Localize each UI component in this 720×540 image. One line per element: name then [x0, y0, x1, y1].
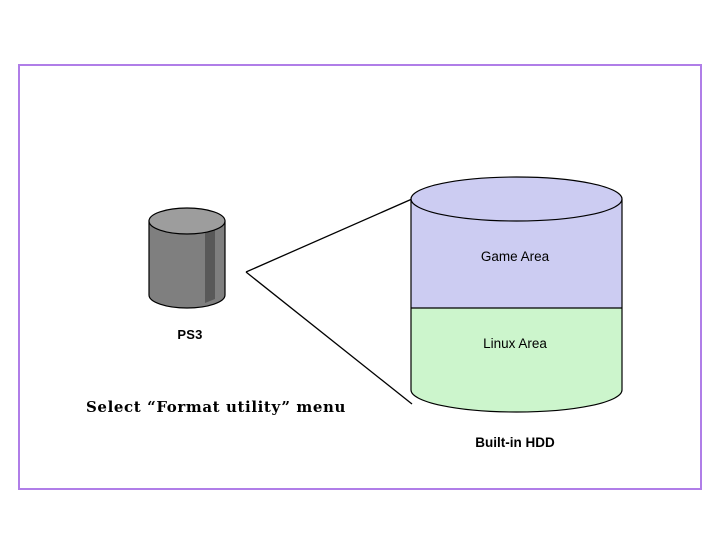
diagram-graphics: [0, 0, 720, 540]
built-in-hdd-caption: Built-in HDD: [435, 435, 595, 450]
hdd-cylinder: [411, 177, 622, 412]
game-area-label: Game Area: [435, 249, 595, 264]
ps3-drive-label: PS3: [140, 327, 240, 342]
ps3-drive-icon: [149, 208, 225, 308]
slide-canvas: PS3 Game Area Linux Area Built-in HDD Se…: [0, 0, 720, 540]
linux-area-label: Linux Area: [435, 336, 595, 351]
instruction-text: Select “Format utility” menu: [86, 398, 346, 416]
callout-lines: [246, 199, 412, 404]
